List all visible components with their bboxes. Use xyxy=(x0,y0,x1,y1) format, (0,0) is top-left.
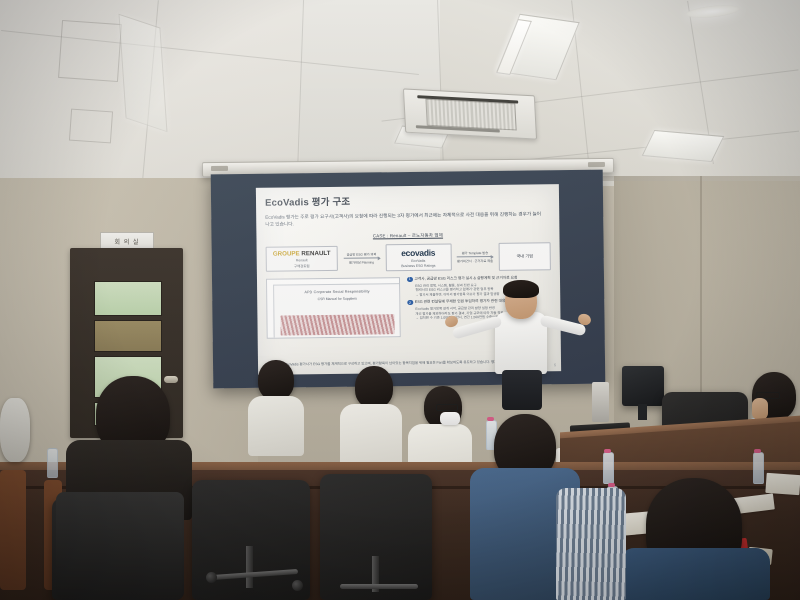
flow-box-domestic-company: 국내 기업 xyxy=(499,242,551,271)
renault-logo-prefix: GROUPE xyxy=(273,250,300,257)
wooden-chair[interactable] xyxy=(0,470,26,590)
door-handle[interactable] xyxy=(164,376,178,383)
monitor-stand xyxy=(638,404,647,420)
slide-body-text: EcoVadis 평가는 주로 평가 요구사(고객사)의 요청에 따라 진행되는… xyxy=(265,210,543,228)
slide-flow-diagram: GROUPE RENAULT Renault 구매검토팀 공급망 ESG 평가 … xyxy=(266,242,551,273)
water-bottle[interactable] xyxy=(47,448,58,478)
face-mask xyxy=(440,412,460,425)
flow-box-sub: Renault xyxy=(268,257,336,262)
arrow-line-icon xyxy=(343,258,379,259)
thumbnail-inner-page: APD Corporate Social Responsibility CSR … xyxy=(273,283,401,339)
ac-grille xyxy=(425,99,517,130)
thumbnail-title: APD Corporate Social Responsibility xyxy=(274,289,400,295)
room-sign-label: 회 의 실 xyxy=(115,237,140,246)
screen-housing-cap xyxy=(588,162,605,167)
attendee-shoulder xyxy=(0,398,30,462)
presenter-legs xyxy=(502,370,542,410)
bottle-cap xyxy=(754,449,761,453)
slide-title: EcoVadis 평가 구조 xyxy=(265,191,550,208)
renault-logo: GROUPE RENAULT xyxy=(268,249,336,257)
bottle-cap xyxy=(604,449,611,453)
attendee-head xyxy=(355,366,393,408)
flow-box-ecovadis: ecovadis EcoVadis Business ESG Ratings xyxy=(385,244,451,272)
chair-castor xyxy=(206,572,217,583)
flow-box-sub: EcoVadis xyxy=(387,258,449,263)
flow-box-renault: GROUPE RENAULT Renault 구매검토팀 xyxy=(266,246,338,272)
screen-housing-cap xyxy=(211,166,228,171)
chair-backrest[interactable] xyxy=(56,492,184,600)
water-bottle[interactable] xyxy=(753,452,764,484)
bottle-cap xyxy=(608,483,615,487)
bullet-number-badge: 2 xyxy=(407,300,413,306)
renault-logo-main: RENAULT xyxy=(301,250,330,257)
flow-arrow-1: 공급망 ESG 평가 의뢰 평가대상 Planning xyxy=(341,251,381,265)
thumbnail-chart-bars xyxy=(280,314,394,335)
slide-page-number: 5 xyxy=(554,363,556,367)
chair-stem xyxy=(246,546,253,588)
flow-arrow-label-top: 공급망 ESG 평가 의뢰 xyxy=(341,251,381,256)
attendee-torso xyxy=(620,548,770,600)
flow-arrow-label-bottom: 평가의견서 · 근거자료 제출 xyxy=(455,258,495,263)
ecovadis-logo: ecovadis xyxy=(387,247,449,258)
water-bottle[interactable] xyxy=(603,452,614,484)
flow-arrow-2: 평가 Template 발송 평가의견서 · 근거자료 제출 xyxy=(455,250,495,264)
desktop-monitor xyxy=(622,366,664,406)
attendee-torso xyxy=(248,396,304,456)
door-glass-panel xyxy=(94,320,162,352)
attendee-torso xyxy=(340,404,402,466)
ceiling-light-panel xyxy=(118,14,167,133)
thumbnail-subtitle: CSR Manual for Suppliers xyxy=(274,296,400,302)
flow-box-sub: 구매검토팀 xyxy=(268,262,336,268)
flow-box-label: 국내 기업 xyxy=(516,254,533,260)
ceiling-ac-cassette xyxy=(403,88,537,139)
attendee-torso-striped xyxy=(556,488,626,600)
document-paper[interactable] xyxy=(765,473,800,495)
attendee-head xyxy=(258,360,294,400)
slide-document-thumbnail: APD Corporate Social Responsibility CSR … xyxy=(266,277,401,339)
bottle-cap xyxy=(487,417,494,421)
attendee-hand xyxy=(752,398,768,420)
flow-arrow-label-bottom: 평가대상 Planning xyxy=(342,260,382,265)
bullet-number-badge: 1 xyxy=(407,277,413,283)
bullet-text: 고객사, 공급망 ESG 리스크 평가 실시 & 실행계획 및 근거자료 요청 xyxy=(414,275,517,282)
presenter-hair xyxy=(503,280,539,298)
desktop-pc xyxy=(592,382,609,422)
wall-corner xyxy=(700,176,702,426)
door-glass-panel xyxy=(94,281,162,316)
chair-base xyxy=(340,584,418,589)
slide-case-label: CASE : Renault – 르노자동차 업체 xyxy=(265,231,550,240)
glasses-icon xyxy=(436,404,458,411)
presenter-torso xyxy=(495,312,547,374)
conference-room-photo: 회 의 실 EcoVadis 평가 구조 EcoVadis 평가는 주로 평가 … xyxy=(0,0,800,600)
flow-box-sub: Business ESG Ratings xyxy=(387,263,449,268)
arrow-line-icon xyxy=(457,256,493,257)
ceiling-access-panel xyxy=(69,109,113,144)
chair-castor xyxy=(292,580,303,591)
ceiling-access-panel xyxy=(58,20,122,82)
flow-arrow-label-top: 평가 Template 발송 xyxy=(455,250,495,255)
